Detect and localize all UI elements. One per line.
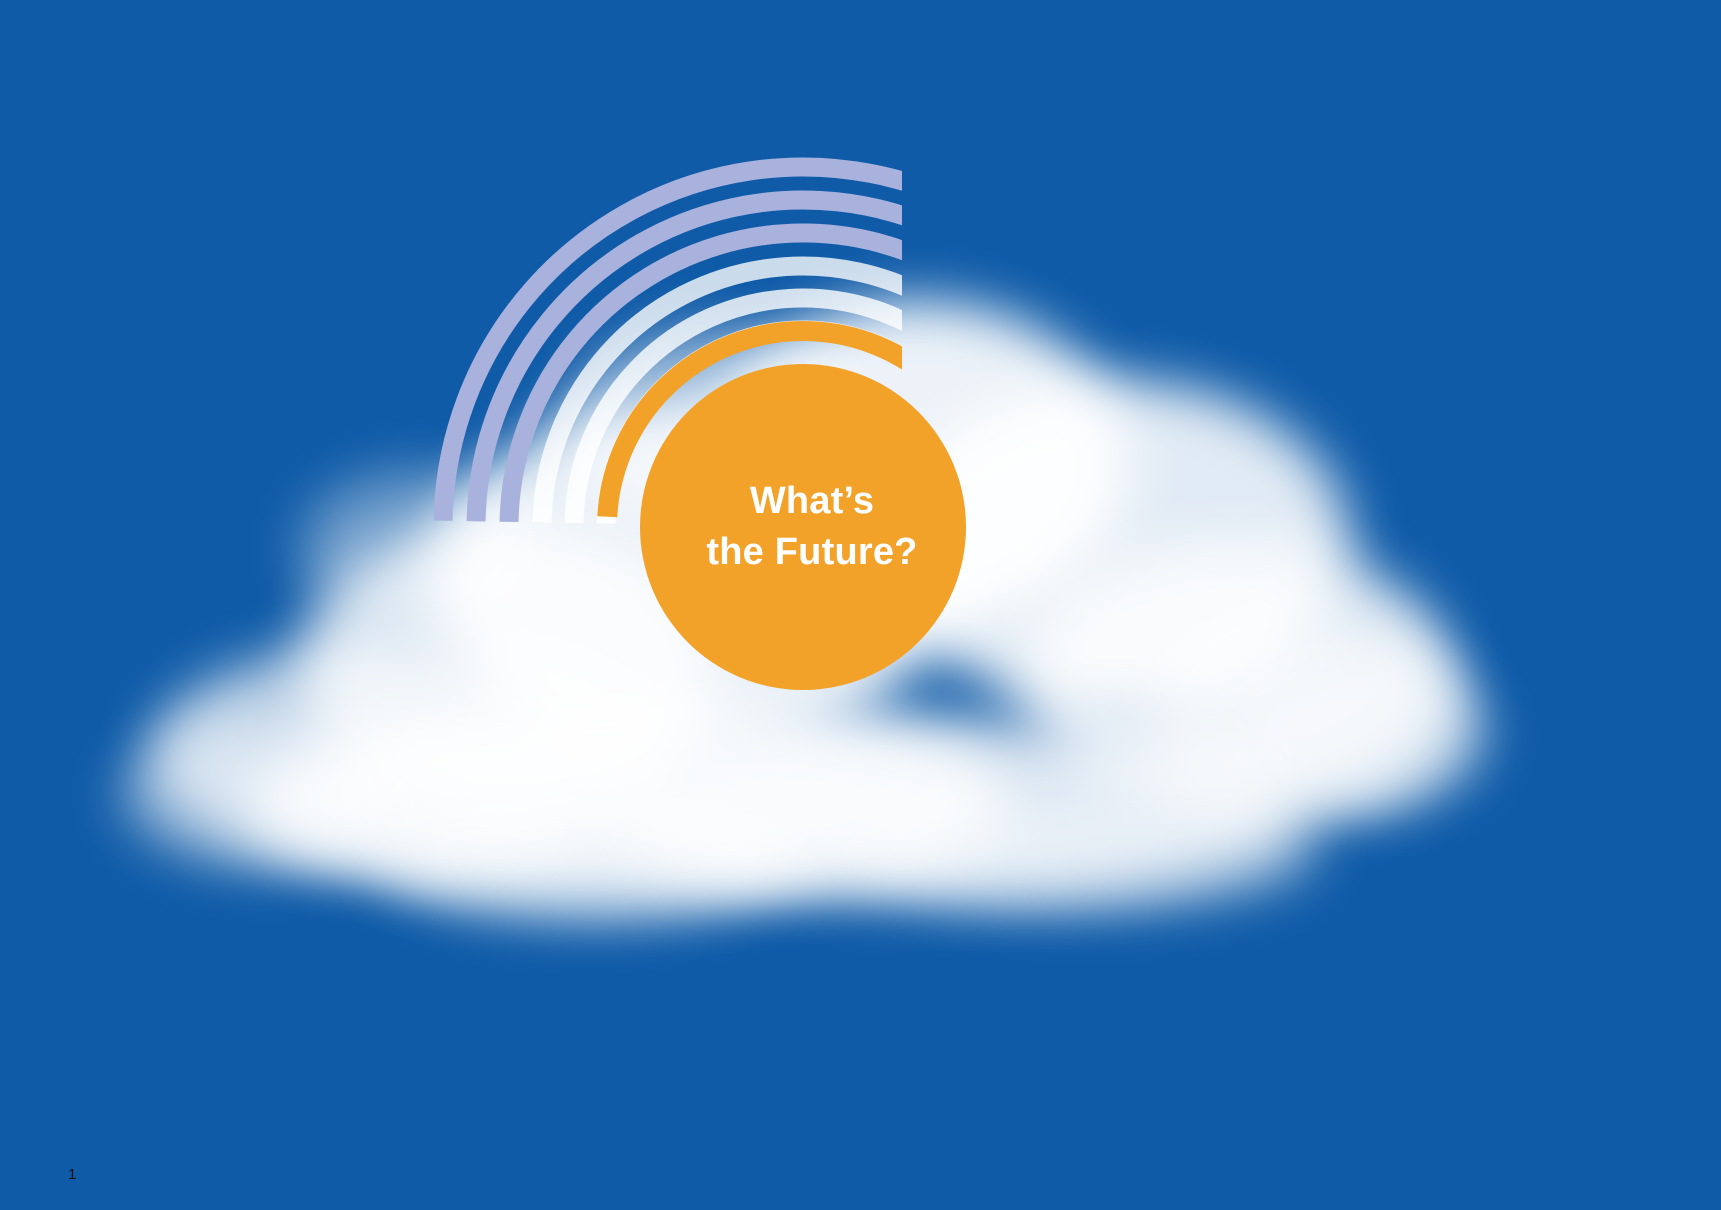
slide-canvas: What’s the Future? 1: [0, 0, 1721, 1210]
page-number: 1: [68, 1166, 76, 1183]
hero-title: What’s the Future?: [640, 364, 966, 690]
hero-title-line-2: the Future?: [706, 527, 917, 578]
hero-title-line-1: What’s: [750, 476, 874, 527]
